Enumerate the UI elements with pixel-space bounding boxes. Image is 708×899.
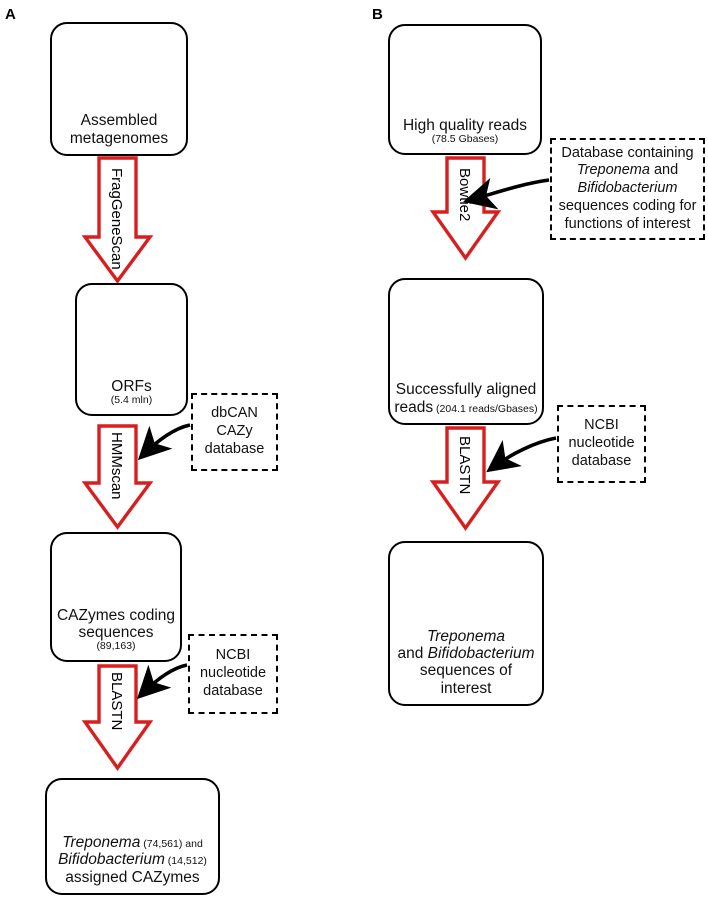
dashbox-line: nucleotide xyxy=(568,435,634,453)
node-orfs[interactable]: ORFs (5.4 mln) xyxy=(75,283,188,416)
genus-treponema: Treponema xyxy=(577,162,650,178)
dashbox-line: nucleotide xyxy=(200,665,266,683)
node-sequences-of-interest[interactable]: Treponema and Bifidobacterium sequences … xyxy=(388,541,544,706)
node-caption-line: and Bifidobacterium xyxy=(390,645,542,662)
node-caption-line: sequences xyxy=(52,624,180,641)
node-count: (89,163) xyxy=(52,641,180,653)
node-caption-line: reads (204.1 reads/Gbases) xyxy=(390,399,542,416)
node-caption-line: interest xyxy=(390,680,542,697)
dashbox-line: NCBI xyxy=(568,417,634,435)
node-cazymes-coding-sequences[interactable]: CAZymes coding sequences (89,163) xyxy=(50,532,182,662)
panel-a-label: A xyxy=(5,6,16,23)
node-caption-line: metagenomes xyxy=(52,130,186,147)
node-caption-line: Bifidobacterium (14,512) xyxy=(47,851,218,868)
node-caption-line: CAZymes coding xyxy=(52,607,180,624)
dashbox-line: Treponema and xyxy=(559,162,697,180)
conjunction: and xyxy=(398,645,428,662)
genus-bifidobacterium: Bifidobacterium xyxy=(58,851,165,868)
node-caption-line: Treponema (74,561) and xyxy=(47,834,218,851)
dashbox-line: database xyxy=(200,683,266,701)
genus-count: (74,561) and xyxy=(140,838,202,850)
arrow-label-blastn-b: BLASTN xyxy=(456,436,473,494)
ncbi-connector-arrow-a xyxy=(142,665,187,694)
node-successfully-aligned-reads[interactable]: Successfully aligned reads (204.1 reads/… xyxy=(388,278,544,425)
dashbox-line: Bifidobacterium xyxy=(559,180,697,198)
node-caption-line: Successfully aligned xyxy=(390,381,542,398)
node-caption-line: ORFs xyxy=(77,378,186,395)
dashbox-line: NCBI xyxy=(200,647,266,665)
dashbox-line: database xyxy=(568,453,634,471)
genus-count: (14,512) xyxy=(165,855,207,867)
node-count: (5.4 mln) xyxy=(77,395,186,407)
genus-bifidobacterium: Bifidobacterium xyxy=(428,645,535,662)
node-caption-line: Treponema xyxy=(390,628,542,645)
node-caption-line: Assembled xyxy=(52,112,186,129)
dashbox-ncbi-nucleotide-database-b[interactable]: NCBI nucleotide database xyxy=(557,405,646,483)
dashbox-line: Database containing xyxy=(559,145,697,163)
dashbox-line: CAZy xyxy=(205,423,265,441)
dashbox-line: database xyxy=(205,441,265,459)
node-assigned-cazymes[interactable]: Treponema (74,561) and Bifidobacterium (… xyxy=(45,778,220,895)
conjunction: and xyxy=(650,162,678,178)
dashbox-dbcan-cazy-database[interactable]: dbCAN CAZy database xyxy=(191,393,278,471)
node-count: (204.1 reads/Gbases) xyxy=(433,403,537,415)
node-assembled-metagenomes[interactable]: Assembled metagenomes xyxy=(50,22,188,156)
arrow-label-fraggenescan: FragGeneScan xyxy=(108,168,125,270)
panel-b-label: B xyxy=(372,6,383,23)
arrow-label-hmmscan: HMMscan xyxy=(108,432,125,500)
dashbox-ncbi-nucleotide-database-a[interactable]: NCBI nucleotide database xyxy=(188,634,278,714)
dashbox-line: functions of interest xyxy=(559,216,697,234)
dbcan-connector-arrow xyxy=(143,425,190,455)
arrow-label-bowtie2: Bowtie2 xyxy=(456,168,473,221)
genus-treponema: Treponema xyxy=(62,834,140,851)
figure-canvas: A B Assembled metagenomes ORFs (5.4 mln)… xyxy=(0,0,708,899)
dashbox-line: sequences coding for xyxy=(559,198,697,216)
ncbi-connector-arrow-b xyxy=(492,438,556,468)
node-count: (78.5 Gbases) xyxy=(390,134,540,146)
dashbox-treponema-bifidobacterium-database[interactable]: Database containing Treponema and Bifido… xyxy=(550,138,705,240)
arrow-label-blastn: BLASTN xyxy=(108,672,125,730)
node-caption-word: reads xyxy=(394,399,433,416)
node-high-quality-reads[interactable]: High quality reads (78.5 Gbases) xyxy=(388,24,542,155)
dashbox-line: dbCAN xyxy=(205,405,265,423)
node-caption-line: High quality reads xyxy=(390,117,540,134)
node-caption-line: sequences of xyxy=(390,662,542,679)
node-caption-line: assigned CAZymes xyxy=(47,869,218,886)
